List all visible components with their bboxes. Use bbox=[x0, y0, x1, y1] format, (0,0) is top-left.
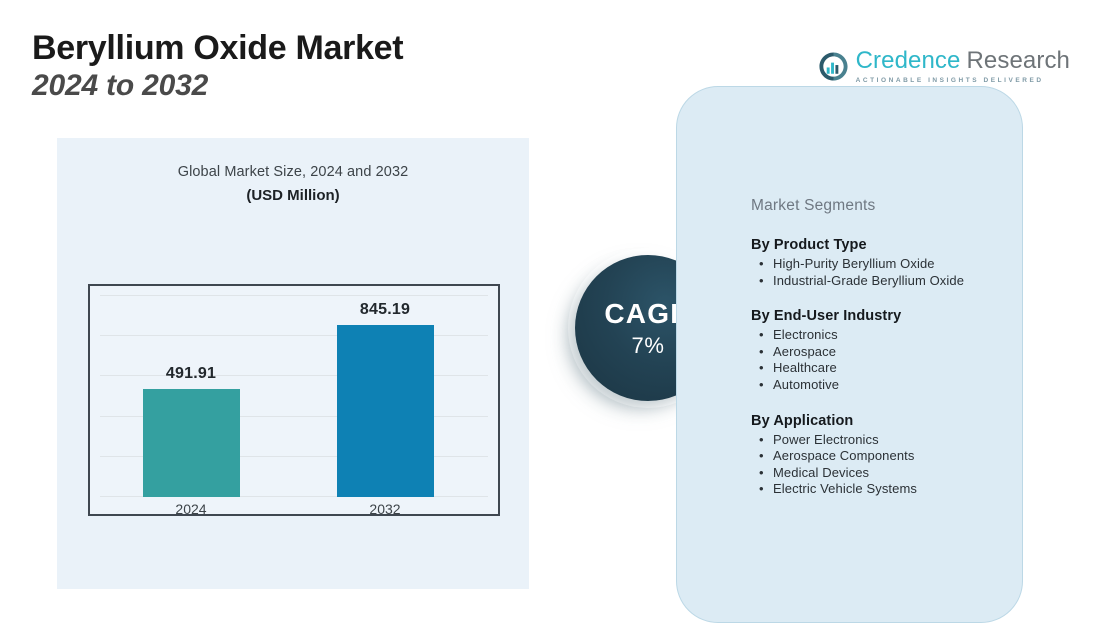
bar-chart-circle-icon bbox=[818, 51, 849, 82]
chart-bar bbox=[143, 389, 240, 497]
logo-text: CredenceResearch Actionable Insights Del… bbox=[856, 49, 1070, 84]
market-segments-content: Market Segments By Product Type•High-Pur… bbox=[751, 197, 1001, 498]
segment-group-title: By Product Type bbox=[751, 237, 1001, 253]
page-title-line1: Beryllium Oxide Market bbox=[32, 28, 592, 68]
bullet-icon: • bbox=[759, 448, 764, 465]
cagr-value: 7% bbox=[632, 335, 665, 357]
segment-list-item: •Electronics bbox=[751, 327, 1001, 344]
chart-bars: 491.912024845.192032 bbox=[90, 286, 498, 514]
logo-name-primary: Credence bbox=[856, 47, 961, 74]
bar-chart-plot-area: 491.912024845.192032 bbox=[88, 284, 500, 516]
segment-group-title: By Application bbox=[751, 413, 1001, 429]
segment-group: By Product Type•High-Purity Beryllium Ox… bbox=[751, 237, 1001, 289]
segment-list-item: •Automotive bbox=[751, 377, 1001, 394]
chart-category-label: 2032 bbox=[305, 501, 465, 517]
segment-list: •Power Electronics•Aerospace Components•… bbox=[751, 432, 1001, 498]
segment-list-item: •High-Purity Beryllium Oxide bbox=[751, 256, 1001, 273]
page-title: Beryllium Oxide Market 2024 to 2032 bbox=[32, 28, 592, 105]
market-size-chart-panel: Global Market Size, 2024 and 2032 (USD M… bbox=[57, 138, 529, 589]
segment-groups: By Product Type•High-Purity Beryllium Ox… bbox=[751, 237, 1001, 498]
bullet-icon: • bbox=[759, 432, 764, 449]
chart-bar-value-label: 491.91 bbox=[111, 365, 271, 383]
segment-list: •High-Purity Beryllium Oxide•Industrial-… bbox=[751, 256, 1001, 289]
bullet-icon: • bbox=[759, 256, 764, 273]
chart-heading-units: (USD Million) bbox=[57, 187, 529, 204]
bullet-icon: • bbox=[759, 344, 764, 361]
bullet-icon: • bbox=[759, 465, 764, 482]
chart-bar-value-label: 845.19 bbox=[305, 301, 465, 319]
market-segments-title: Market Segments bbox=[751, 197, 1001, 215]
segment-list-item: •Electric Vehicle Systems bbox=[751, 481, 1001, 498]
segment-group: By End-User Industry•Electronics•Aerospa… bbox=[751, 308, 1001, 393]
page-title-line2: 2024 to 2032 bbox=[32, 68, 592, 105]
chart-heading: Global Market Size, 2024 and 2032 (USD M… bbox=[57, 164, 529, 204]
market-segments-panel: Market Segments By Product Type•High-Pur… bbox=[676, 86, 1023, 623]
bullet-icon: • bbox=[759, 377, 764, 394]
segment-list: •Electronics•Aerospace•Healthcare•Automo… bbox=[751, 327, 1001, 393]
bullet-icon: • bbox=[759, 327, 764, 344]
segment-group-title: By End-User Industry bbox=[751, 308, 1001, 324]
chart-heading-primary: Global Market Size, 2024 and 2032 bbox=[57, 164, 529, 180]
segment-list-item: •Healthcare bbox=[751, 360, 1001, 377]
segment-group: By Application•Power Electronics•Aerospa… bbox=[751, 413, 1001, 498]
bullet-icon: • bbox=[759, 360, 764, 377]
chart-category-label: 2024 bbox=[111, 501, 271, 517]
logo-wordmark: CredenceResearch bbox=[856, 49, 1070, 73]
logo-name-secondary: Research bbox=[966, 47, 1070, 74]
bullet-icon: • bbox=[759, 273, 764, 290]
segment-list-item: •Aerospace Components bbox=[751, 448, 1001, 465]
chart-bar bbox=[337, 325, 434, 497]
segment-list-item: •Aerospace bbox=[751, 344, 1001, 361]
segment-list-item: •Power Electronics bbox=[751, 432, 1001, 449]
segment-list-item: •Medical Devices bbox=[751, 465, 1001, 482]
segment-list-item: •Industrial-Grade Beryllium Oxide bbox=[751, 273, 1001, 290]
credence-research-logo: CredenceResearch Actionable Insights Del… bbox=[818, 49, 1070, 84]
logo-tagline: Actionable Insights Delivered bbox=[856, 77, 1070, 84]
bullet-icon: • bbox=[759, 481, 764, 498]
